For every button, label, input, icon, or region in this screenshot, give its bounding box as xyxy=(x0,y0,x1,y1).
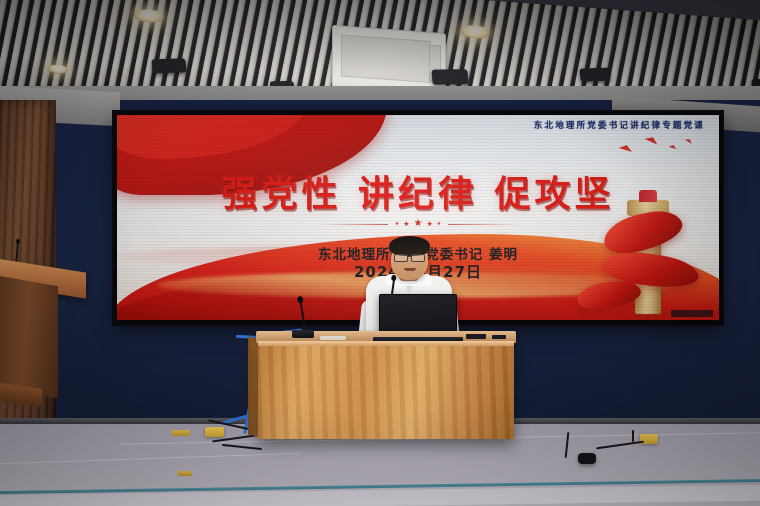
microphone-base xyxy=(292,330,314,338)
speaker-mouth xyxy=(404,268,416,271)
lens-right xyxy=(411,254,425,262)
desk-device xyxy=(466,334,486,339)
star-icon: ★ xyxy=(414,219,423,229)
eyeglasses-icon xyxy=(394,254,425,260)
divider-line-left xyxy=(316,224,388,225)
screen-header-text: 东北地理所党委书记讲纪律专题党课 xyxy=(534,119,705,131)
lecture-desk-front xyxy=(258,341,514,439)
divider-stars: ★ ★ ★ ★ ★ xyxy=(395,219,442,229)
star-icon: ★ xyxy=(403,221,409,228)
floor-seam xyxy=(0,453,300,464)
screen-main-title: 强党性 讲纪律 促攻坚 xyxy=(117,165,719,217)
floor-outlet-icon xyxy=(205,427,224,437)
desk-paper xyxy=(320,336,346,340)
floor-outlet-icon xyxy=(178,471,192,476)
floor-outlet-icon xyxy=(172,430,190,436)
screenshot-root: 东北地理所党委书记讲纪律专题党课 强党性 讲纪律 促攻坚 ★ ★ ★ ★ ★ 东… xyxy=(0,0,760,506)
desk-front-lip xyxy=(258,341,514,346)
screen-taskbar-artifact xyxy=(671,310,713,317)
star-divider: ★ ★ ★ ★ ★ xyxy=(117,219,719,229)
star-icon: ★ xyxy=(426,221,432,228)
star-icon: ★ xyxy=(395,222,399,227)
black-cable xyxy=(632,430,634,442)
power-adapter-icon xyxy=(578,453,596,464)
divider-line-right xyxy=(448,224,520,225)
lens-left xyxy=(394,254,408,262)
desk-device xyxy=(492,335,506,339)
speaker-hair xyxy=(389,236,430,256)
side-lectern xyxy=(0,276,58,398)
star-icon: ★ xyxy=(437,222,441,227)
